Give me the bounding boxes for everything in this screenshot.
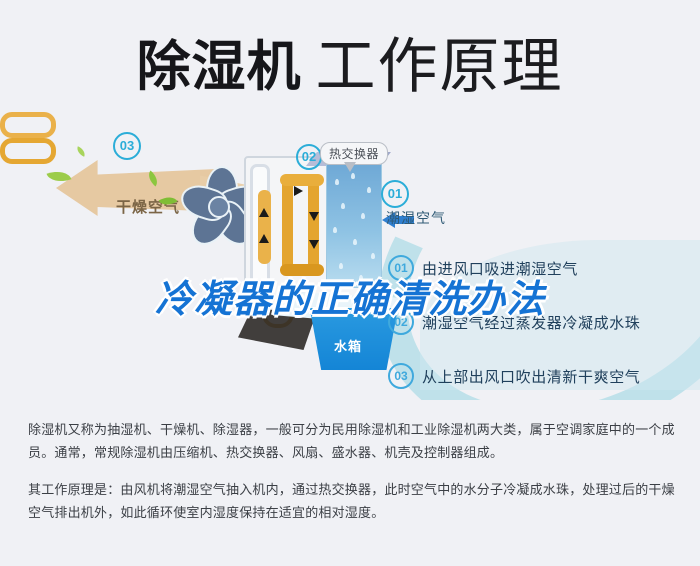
refrigerant-pipe (308, 178, 319, 274)
page-title: 除湿机工作原理 (0, 18, 700, 105)
water-droplet-icon (371, 253, 375, 259)
flow-arrow-right-icon (294, 186, 303, 196)
refrigerant-pipe (280, 174, 324, 186)
water-droplet-icon (335, 179, 339, 185)
refrigerant-pipe-bend (0, 138, 56, 164)
badge-03: 03 (113, 132, 141, 160)
infographic-page: 除湿机工作原理 干燥空气 (0, 0, 700, 566)
title-secondary: 工作原理 (316, 33, 564, 100)
overlay-headline: 冷凝器的正确清洗办法 (0, 268, 700, 323)
water-tank-label: 水箱 (334, 336, 362, 355)
water-droplet-icon (341, 203, 345, 209)
leaf-icon (75, 146, 87, 156)
list-item: 03 从上部出风口吹出清新干爽空气 (388, 362, 688, 390)
flow-arrow-up-icon (259, 208, 269, 217)
step-text: 从上部出风口吹出清新干爽空气 (422, 366, 640, 387)
refrigerant-pipe (258, 190, 271, 264)
body-copy: 除湿机又称为抽湿机、干燥机、除湿器，一般可分为民用除湿机和工业除湿机两大类，属于… (28, 418, 676, 538)
water-droplet-icon (361, 213, 365, 219)
step-number: 03 (388, 363, 414, 389)
water-droplet-icon (353, 239, 357, 245)
flow-arrow-up-icon (259, 234, 269, 243)
refrigerant-pipe (282, 178, 293, 274)
humid-air-label: 潮湿空气 (386, 208, 446, 228)
water-droplet-icon (333, 227, 337, 233)
fan-hub (208, 196, 230, 218)
water-droplet-icon (367, 187, 371, 193)
diagram-illustration: 干燥空气 (0, 112, 700, 400)
overlay-headline-text: 冷凝器的正确清洗办法 (155, 279, 545, 321)
paragraph-2: 其工作原理是：由风机将潮湿空气抽入机内，通过热交换器，此时空气中的水分子冷凝成水… (28, 478, 676, 524)
flow-arrow-down-icon (309, 212, 319, 221)
badge-02: 02 (296, 144, 322, 170)
callout-tail-icon (344, 162, 356, 172)
refrigerant-pipe-bend (0, 112, 56, 138)
paragraph-1: 除湿机又称为抽湿机、干燥机、除湿器，一般可分为民用除湿机和工业除湿机两大类，属于… (28, 418, 676, 464)
title-primary: 除湿机 (137, 37, 302, 97)
water-droplet-icon (351, 173, 355, 179)
badge-01: 01 (381, 180, 409, 208)
flow-arrow-down-icon (309, 240, 319, 249)
